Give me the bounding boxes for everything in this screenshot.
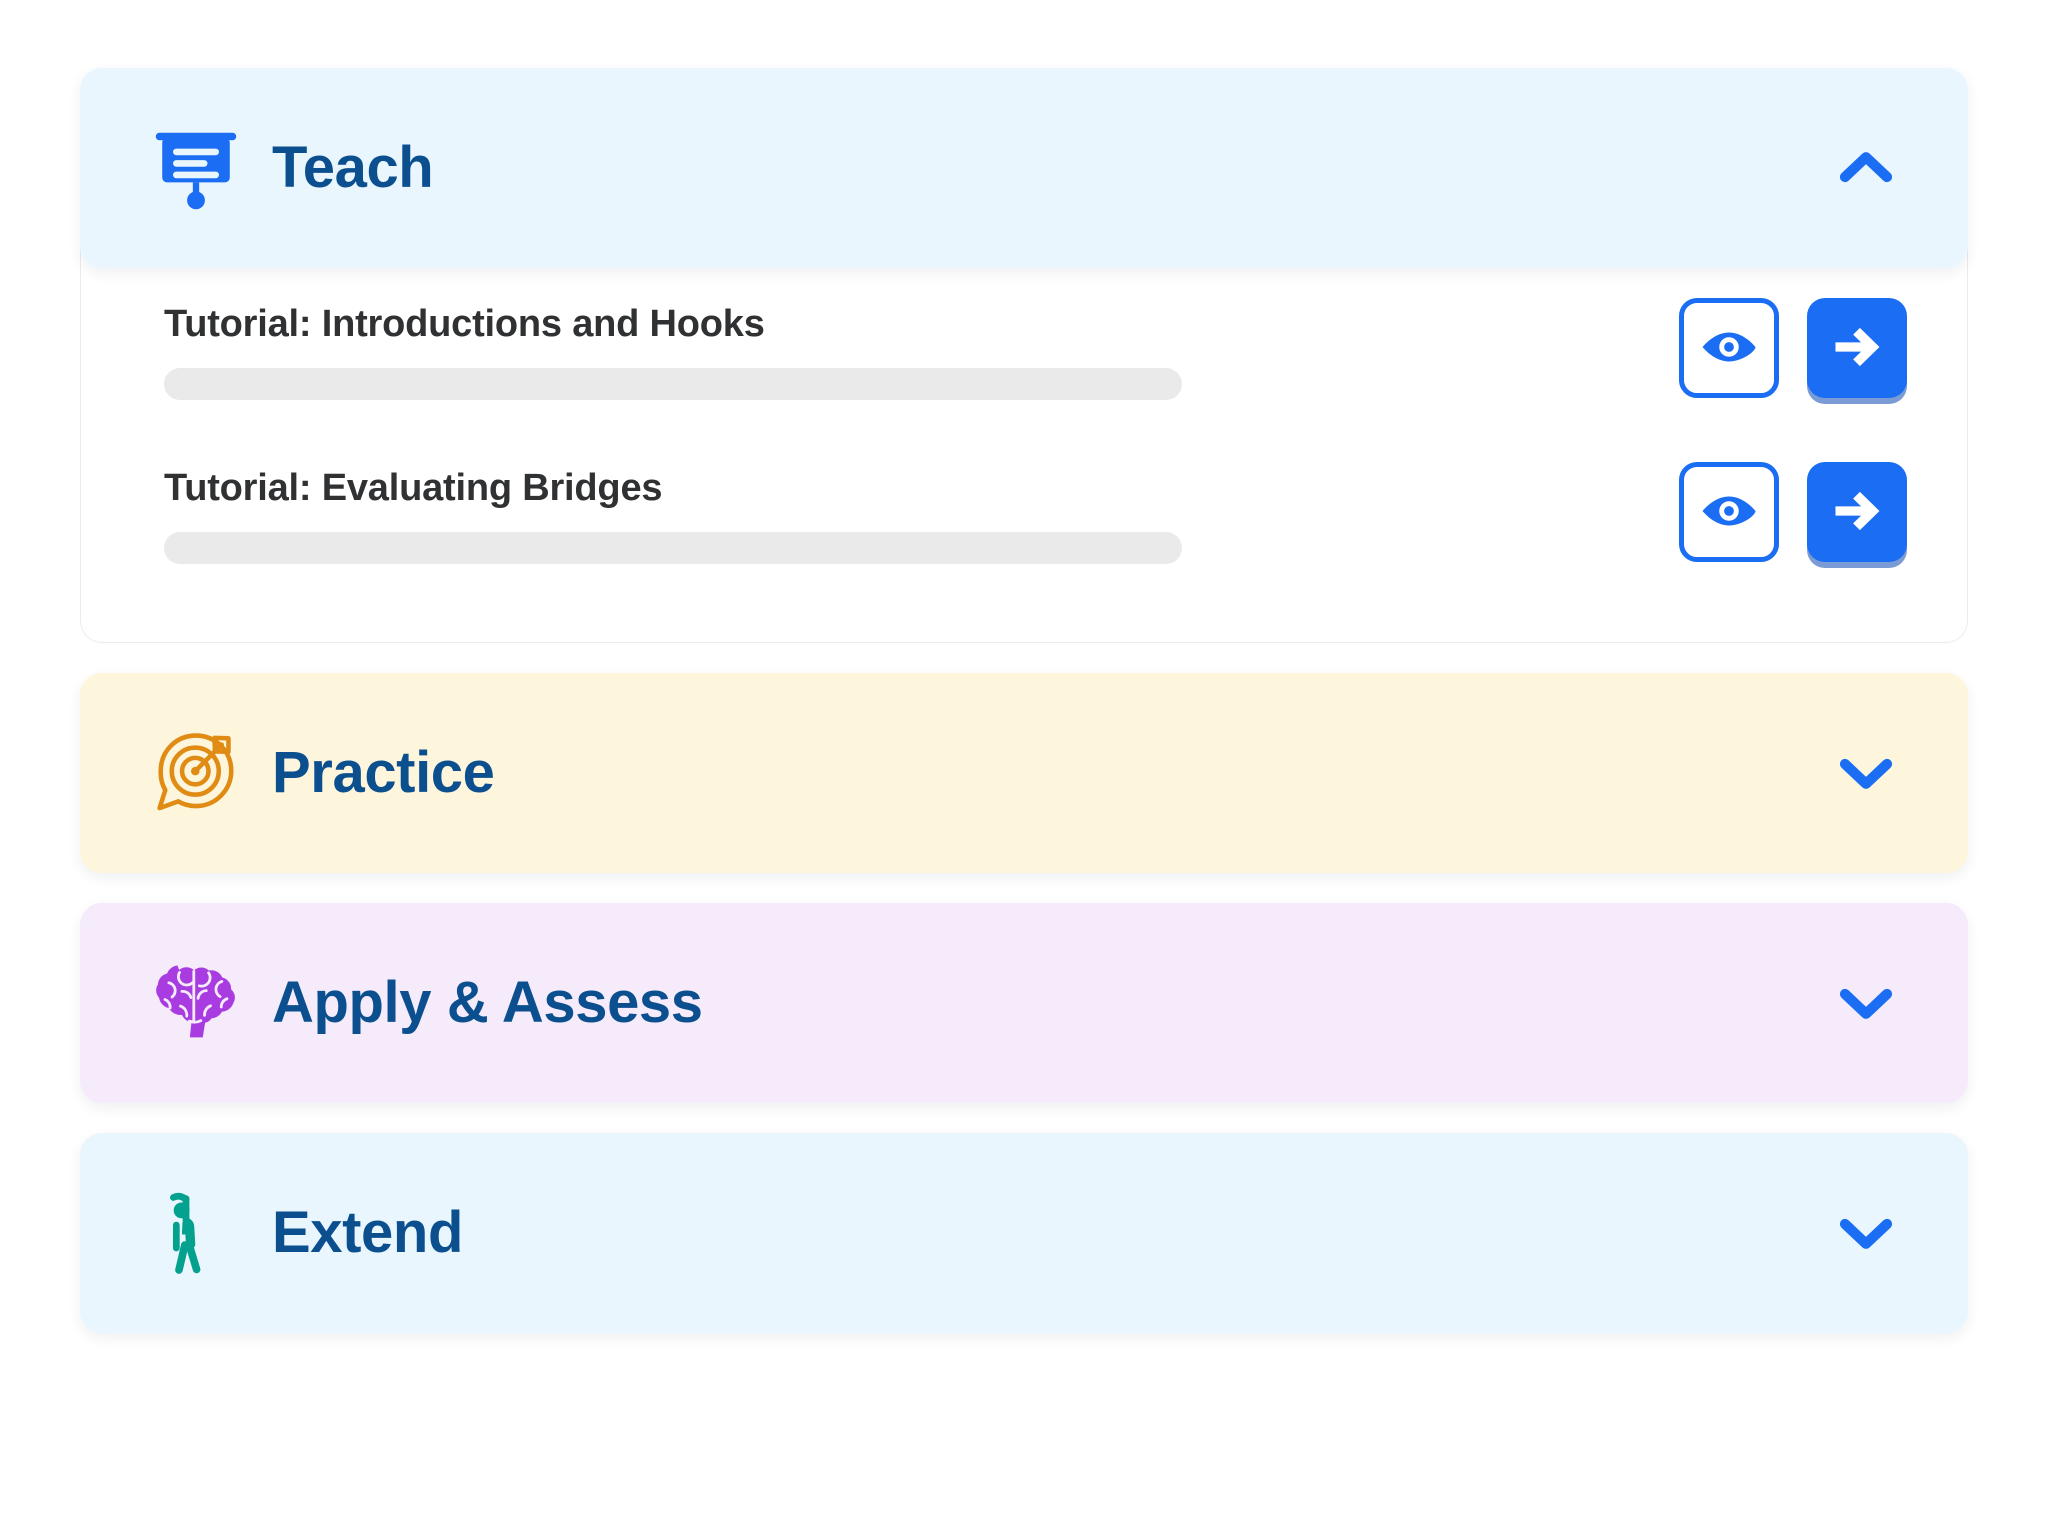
arrow-right-icon — [1828, 482, 1886, 543]
tutorial-progress-bar — [164, 532, 1182, 564]
section-title-practice: Practice — [272, 744, 495, 802]
tutorial-main: Tutorial: Evaluating Bridges — [164, 462, 1649, 564]
section-title-teach: Teach — [272, 139, 433, 197]
chevron-down-icon[interactable] — [1826, 1193, 1906, 1273]
target-speech-bubble-icon — [148, 725, 244, 821]
eye-icon — [1699, 481, 1759, 544]
tutorial-title: Tutorial: Introductions and Hooks — [164, 304, 1649, 346]
brain-icon — [148, 955, 244, 1051]
person-stretching-icon — [148, 1185, 244, 1281]
section-practice: Practice — [80, 673, 1968, 873]
tutorial-row: Tutorial: Introductions and Hooks — [81, 298, 1967, 422]
presentation-board-icon — [148, 120, 244, 216]
section-header-apply-assess[interactable]: Apply & Assess — [80, 903, 1968, 1103]
tutorial-actions: Preview Go — [1679, 298, 1907, 398]
tutorial-actions: Preview Go — [1679, 462, 1907, 562]
chevron-up-icon[interactable] — [1826, 128, 1906, 208]
tutorial-row: Tutorial: Evaluating Bridges — [81, 462, 1967, 586]
tutorial-main: Tutorial: Introductions and Hooks — [164, 298, 1649, 400]
eye-icon — [1699, 317, 1759, 380]
lesson-stages-panel: Teach Tutorial: Introductions and Hooks — [0, 0, 2048, 1536]
section-header-teach[interactable]: Teach — [80, 68, 1968, 268]
preview-button[interactable]: Preview — [1679, 298, 1779, 398]
tutorial-title: Tutorial: Evaluating Bridges — [164, 468, 1649, 510]
chevron-down-icon[interactable] — [1826, 733, 1906, 813]
section-extend: Extend — [80, 1133, 1968, 1333]
section-title-extend: Extend — [272, 1204, 463, 1262]
section-apply-assess: Apply & Assess — [80, 903, 1968, 1103]
section-header-extend[interactable]: Extend — [80, 1133, 1968, 1333]
section-header-practice[interactable]: Practice — [80, 673, 1968, 873]
arrow-right-icon — [1828, 318, 1886, 379]
preview-button[interactable]: Preview — [1679, 462, 1779, 562]
section-teach: Teach Tutorial: Introductions and Hooks — [80, 68, 1968, 643]
section-title-apply-assess: Apply & Assess — [272, 974, 703, 1032]
tutorial-progress-bar — [164, 368, 1182, 400]
go-button[interactable]: Go — [1807, 298, 1907, 398]
section-body-teach: Tutorial: Introductions and Hooks — [80, 238, 1968, 643]
chevron-down-icon[interactable] — [1826, 963, 1906, 1043]
go-button[interactable]: Go — [1807, 462, 1907, 562]
